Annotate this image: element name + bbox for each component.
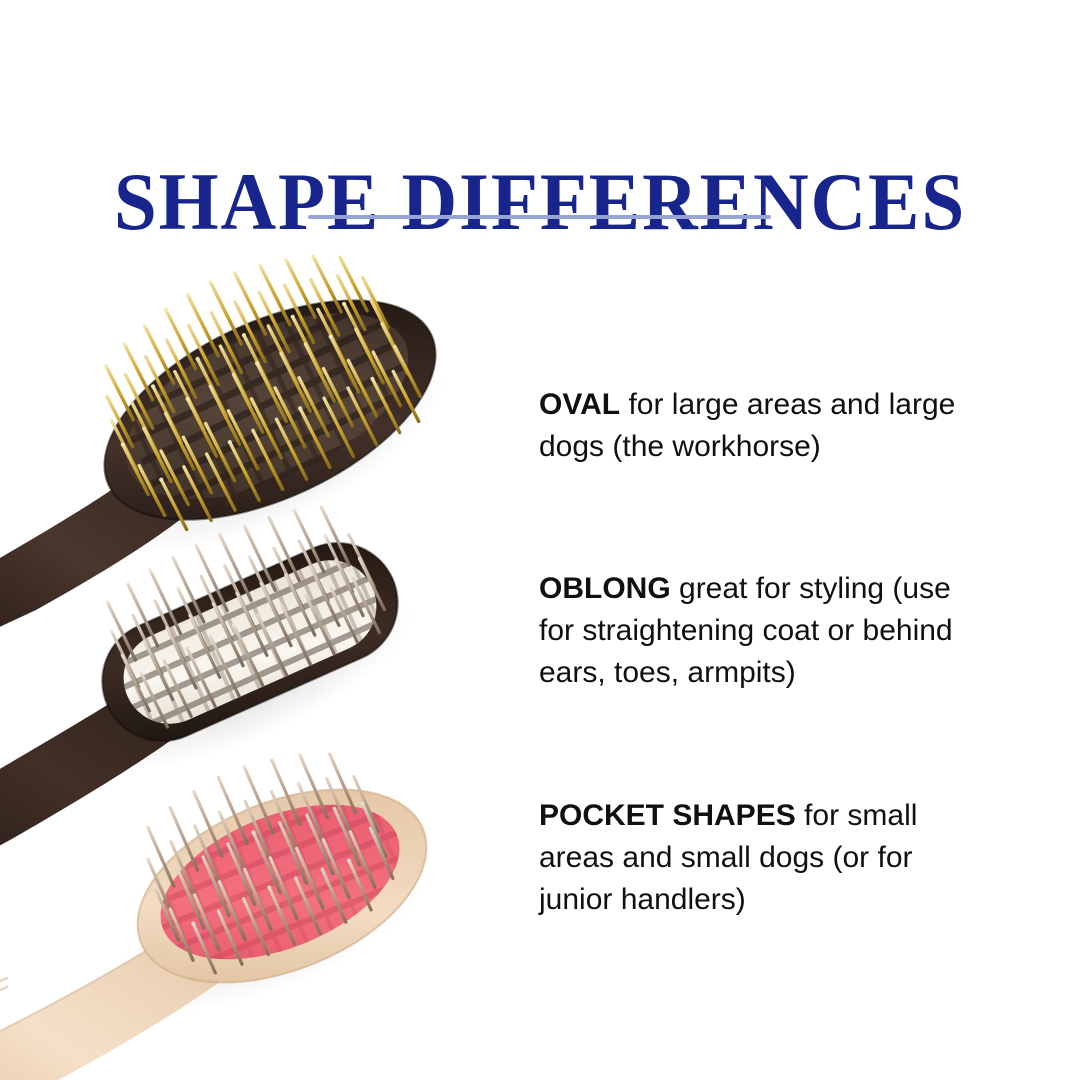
caption-oblong-term: OBLONG — [539, 572, 671, 605]
pocket-brush-brand-mark — [0, 978, 7, 996]
caption-oval-term: OVAL — [539, 388, 620, 421]
pocket-brush — [0, 720, 570, 1080]
title-divider — [308, 215, 771, 219]
caption-pocket-term: POCKET SHAPES — [539, 799, 796, 832]
caption-oval: OVAL for large areas and large dogs (the… — [539, 384, 971, 468]
caption-oblong: OBLONG great for styling (use for straig… — [539, 568, 971, 694]
infographic-canvas: SHAPE DIFFERENCES — [0, 0, 1080, 1080]
caption-pocket: POCKET SHAPES for small areas and small … — [539, 795, 971, 921]
page-title: SHAPE DIFFERENCES — [32, 159, 1047, 245]
